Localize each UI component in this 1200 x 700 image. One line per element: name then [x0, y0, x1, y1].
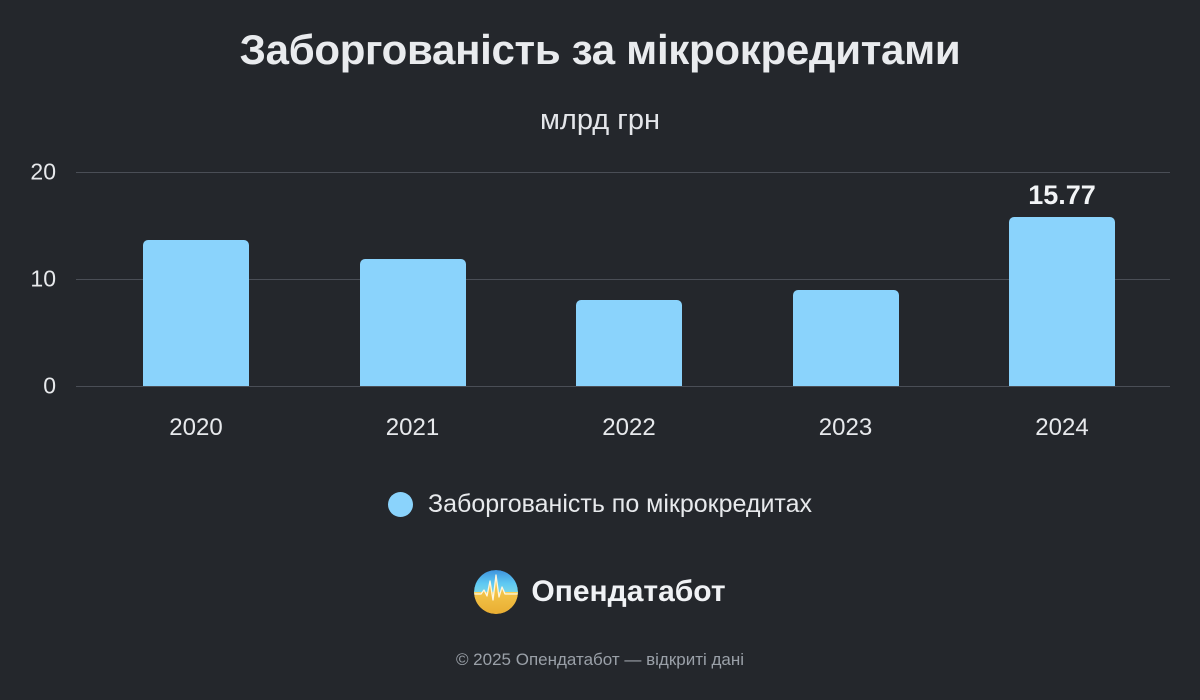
- x-axis-tick-2021: 2021: [333, 414, 493, 442]
- bar-2021[interactable]: [360, 259, 466, 386]
- opendatabot-logo-icon: [474, 570, 518, 614]
- bar-2024[interactable]: [1009, 217, 1115, 386]
- x-axis-tick-2020: 2020: [116, 414, 276, 442]
- brand-name: Опендатабот: [531, 577, 725, 607]
- bar-2022[interactable]: [576, 300, 682, 386]
- bar-2020[interactable]: [143, 240, 249, 386]
- y-axis-tick-10: 10: [0, 266, 56, 293]
- brand-block: Опендатабот: [0, 570, 1200, 614]
- legend-item-label: Заборгованість по мікрокредитах: [428, 492, 812, 517]
- chart-canvas: Заборгованість за мікрокредитами млрд гр…: [0, 0, 1200, 700]
- legend-marker-icon: [388, 492, 413, 517]
- chart-legend: Заборгованість по мікрокредитах: [0, 492, 1200, 517]
- y-axis-tick-0: 0: [0, 373, 56, 400]
- x-axis-tick-2022: 2022: [549, 414, 709, 442]
- bar-value-label-2024: 15.77: [972, 180, 1152, 211]
- x-axis-tick-2024: 2024: [982, 414, 1142, 442]
- footer-copyright: © 2025 Опендатабот — відкриті дані: [0, 650, 1200, 670]
- y-axis-tick-20: 20: [0, 159, 56, 186]
- bar-2023[interactable]: [793, 290, 899, 386]
- gridline-0: [76, 386, 1170, 387]
- x-axis-tick-2023: 2023: [766, 414, 926, 442]
- gridline-20: [76, 172, 1170, 173]
